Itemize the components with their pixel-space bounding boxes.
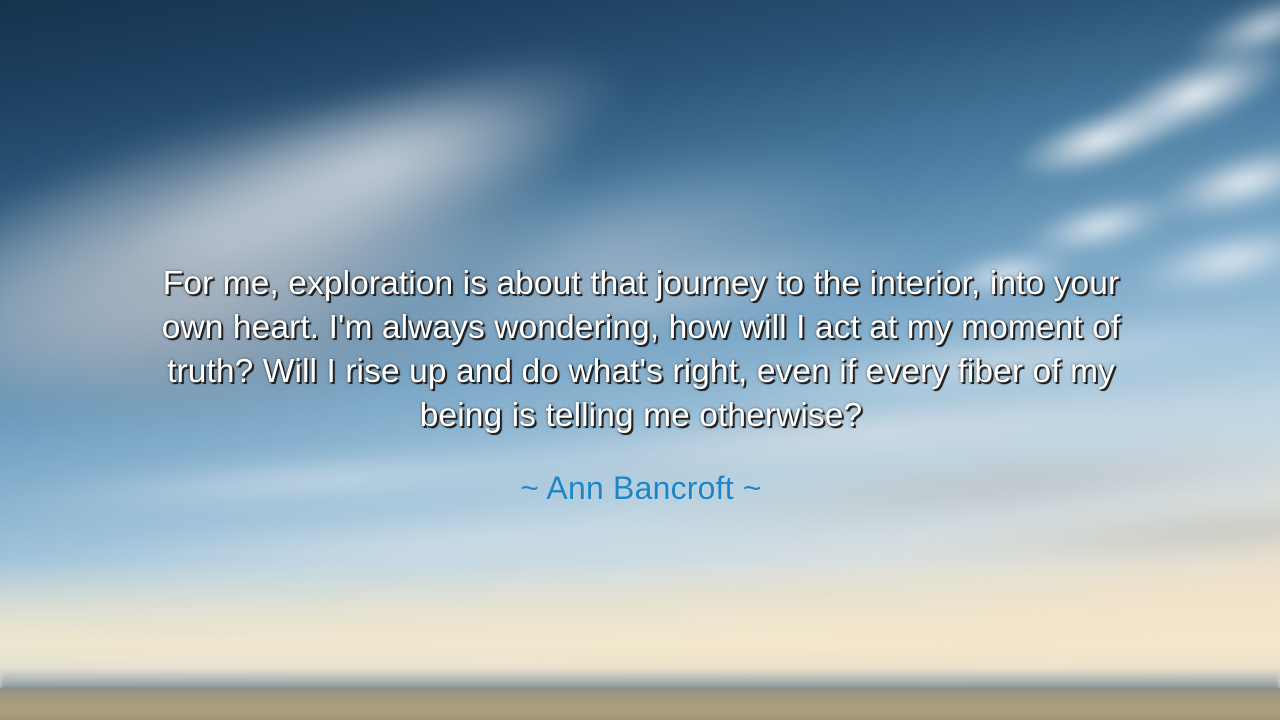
quote-block: For me, exploration is about that journe… xyxy=(146,262,1136,507)
foreground-land xyxy=(0,688,1280,720)
quote-card: For me, exploration is about that journe… xyxy=(0,0,1280,720)
quote-attribution: ~ Ann Bancroft ~ xyxy=(146,438,1136,507)
quote-text: For me, exploration is about that journe… xyxy=(146,262,1136,438)
